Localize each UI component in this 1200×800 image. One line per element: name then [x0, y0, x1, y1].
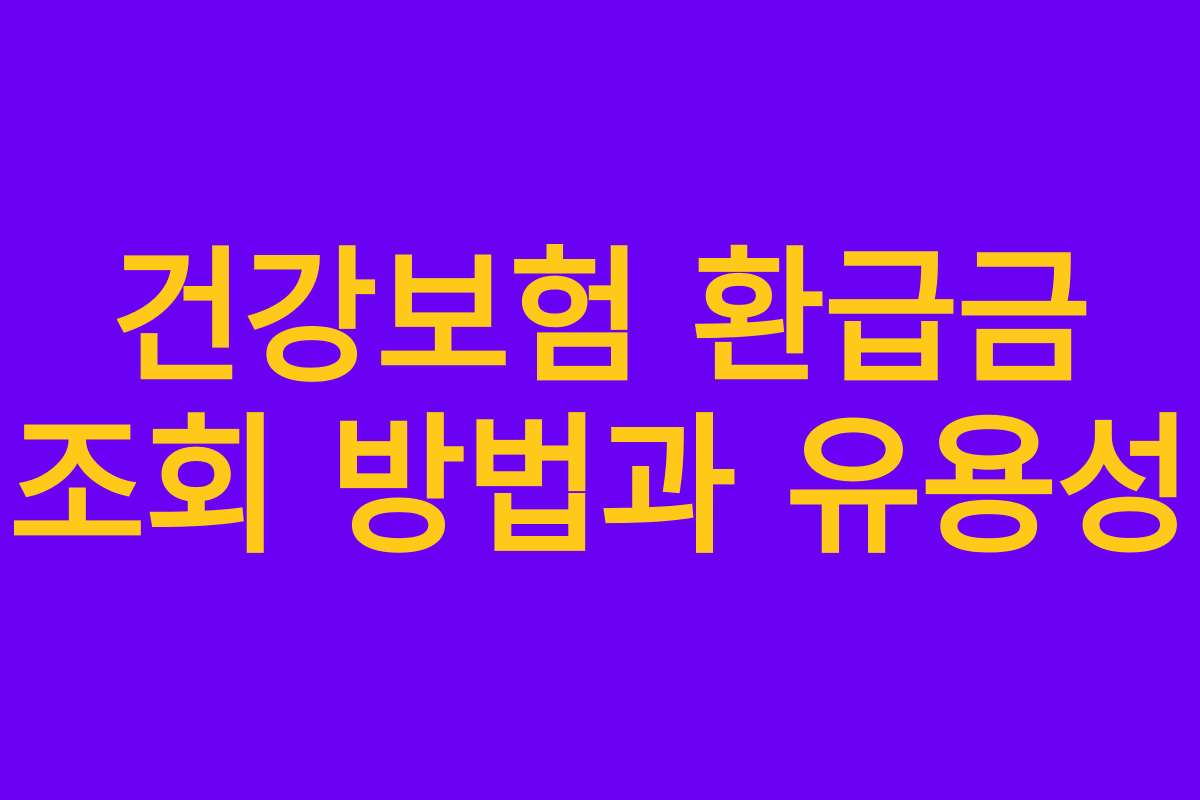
- title-line-2: 조회 방법과 유용성: [0, 413, 1200, 563]
- title-block: 건강보험 환급금 조회 방법과 유용성: [0, 253, 1200, 555]
- thumbnail-canvas: 건강보험 환급금 조회 방법과 유용성: [0, 0, 1200, 800]
- title-line-1: 건강보험 환급금: [0, 246, 1200, 392]
